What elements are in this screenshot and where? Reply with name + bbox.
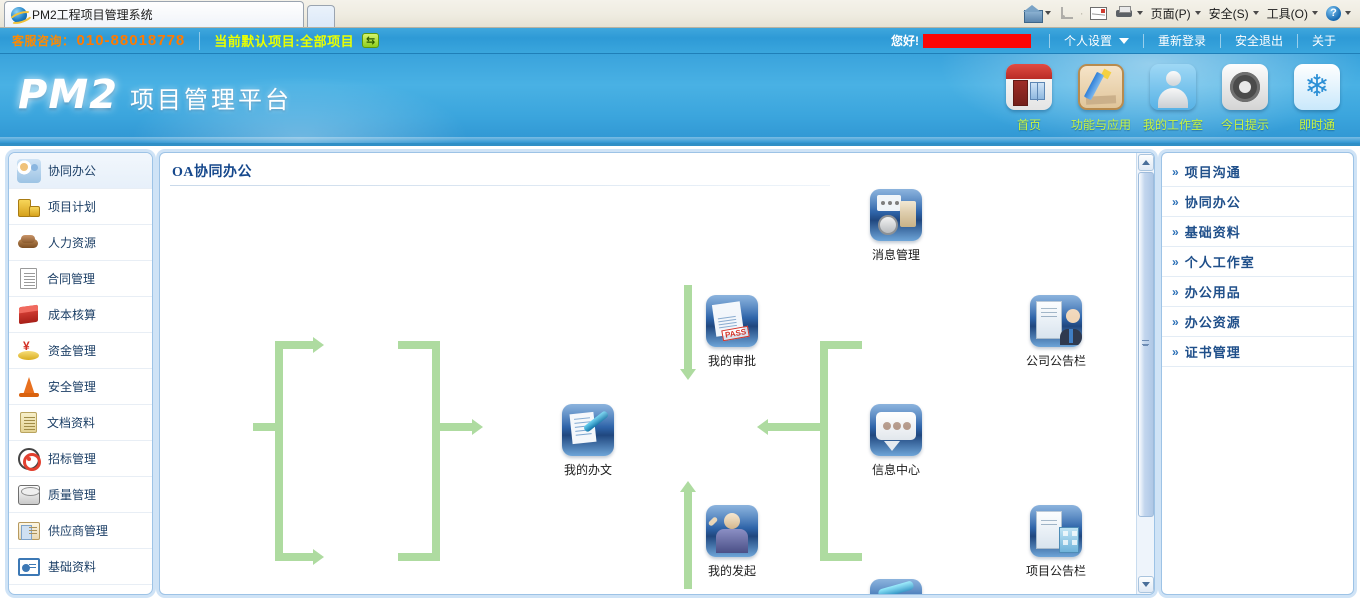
current-project-label: 当前默认项目:全部项目 xyxy=(214,31,354,50)
main-region: 协同办公 项目计划 人力资源 合同管理 成本核算 资金管理 安全管理 文档资料 xyxy=(0,146,1360,601)
message-icon xyxy=(870,189,922,241)
arrow-to-launch xyxy=(313,549,324,565)
browser-command-bar: · 页面(P) 安全(S) 工具(O) ? xyxy=(1021,0,1360,27)
connector-segment xyxy=(432,341,440,561)
mail-icon xyxy=(1090,7,1107,20)
home-button[interactable] xyxy=(1021,2,1054,24)
node-project-bulletin-board[interactable]: 项目公告栏 xyxy=(1014,505,1098,579)
quick-link-label: 协同办公 xyxy=(1185,192,1241,211)
app-info-bar: 客服咨询： 010-88018778 当前默认项目:全部项目 ⇆ 您好! 个人设… xyxy=(0,28,1360,54)
mail-button[interactable] xyxy=(1087,2,1110,24)
relogin-link[interactable]: 重新登录 xyxy=(1144,32,1220,49)
page-menu-label: 页面(P) xyxy=(1151,5,1191,22)
nav-label: 首页 xyxy=(1017,116,1041,133)
app-logo: PM2 项目管理平台 xyxy=(18,72,292,118)
sidebar-item-contract-management[interactable]: 合同管理 xyxy=(9,261,152,297)
quick-link-collaborative-office[interactable]: » 协同办公 xyxy=(1162,187,1353,217)
divider xyxy=(199,32,200,50)
sidebar-item-bidding-management[interactable]: 招标管理 xyxy=(9,441,152,477)
node-label: 我的发起 xyxy=(690,562,774,579)
arrow-to-approval xyxy=(313,337,324,353)
security-menu[interactable]: 安全(S) xyxy=(1206,2,1262,24)
quick-link-label: 项目沟通 xyxy=(1185,162,1241,181)
node-my-approval[interactable]: PASS 我的审批 xyxy=(690,295,774,369)
vendor-card-icon xyxy=(18,522,40,540)
app-banner: PM2 项目管理平台 首页 功能与应用 我的工作室 今日提示 即时通 xyxy=(0,54,1360,146)
safety-cone-icon xyxy=(17,375,41,399)
content-scrollbar[interactable] xyxy=(1136,153,1154,594)
personal-settings-label: 个人设置 xyxy=(1064,32,1112,49)
browser-tab[interactable]: PM2工程项目管理系统 xyxy=(4,1,304,27)
help-menu[interactable]: ? xyxy=(1323,2,1354,24)
connector-segment xyxy=(768,423,828,431)
board-person-icon xyxy=(1030,295,1082,347)
sidebar-item-document-files[interactable]: 文档资料 xyxy=(9,405,152,441)
base-data-icon xyxy=(18,558,40,576)
connector-segment xyxy=(820,341,828,561)
plan-icon xyxy=(17,195,41,219)
partial-icon xyxy=(870,579,922,595)
node-partial-clipped[interactable] xyxy=(854,579,938,595)
tools-menu-label: 工具(O) xyxy=(1267,5,1308,22)
greeting-label: 您好! xyxy=(891,32,919,49)
help-icon: ? xyxy=(1326,6,1341,21)
node-my-doc[interactable]: 我的办文 xyxy=(546,404,630,478)
chevron-down-icon xyxy=(1253,11,1259,15)
user-icon xyxy=(1150,64,1196,110)
content-panel: OA协同办公 xyxy=(159,152,1155,595)
snowflake-icon xyxy=(1294,64,1340,110)
connector-segment xyxy=(432,423,474,431)
quick-link-label: 基础资料 xyxy=(1185,222,1241,241)
nav-label: 我的工作室 xyxy=(1143,116,1203,133)
feeds-button[interactable] xyxy=(1056,2,1077,24)
sidebar-item-basic-data[interactable]: 基础资料 xyxy=(9,549,152,585)
sidebar-item-collaborative-office[interactable]: 协同办公 xyxy=(9,153,152,189)
node-label: 消息管理 xyxy=(854,246,938,263)
service-hotline: 客服咨询： 010-88018778 xyxy=(0,32,185,49)
nav-item-functions[interactable]: 功能与应用 xyxy=(1072,64,1130,133)
quick-link-certificate-management[interactable]: » 证书管理 xyxy=(1162,337,1353,367)
node-label: 公司公告栏 xyxy=(1014,352,1098,369)
arrow-to-info-center-left xyxy=(472,419,483,435)
sidebar-item-label: 文档资料 xyxy=(47,414,95,431)
chevron-right-icon: » xyxy=(1172,315,1179,329)
logo-text: PM2 xyxy=(18,72,118,118)
node-label: 信息中心 xyxy=(854,461,938,478)
sidebar-item-quality-management[interactable]: 质量管理 xyxy=(9,477,152,513)
quick-link-project-communication[interactable]: » 项目沟通 xyxy=(1162,157,1353,187)
personal-settings-link[interactable]: 个人设置 xyxy=(1050,32,1143,49)
home-icon xyxy=(1024,6,1041,21)
sidebar-item-label: 资金管理 xyxy=(48,342,96,359)
about-link[interactable]: 关于 xyxy=(1298,32,1350,49)
launch-person-icon xyxy=(706,505,758,557)
chevron-right-icon: » xyxy=(1172,225,1179,239)
chevron-right-icon: » xyxy=(1172,285,1179,299)
sidebar-item-supplier-management[interactable]: 供应商管理 xyxy=(9,513,152,549)
chevron-up-icon xyxy=(1142,160,1150,165)
page-title: OA协同办公 xyxy=(172,161,252,181)
node-my-launch[interactable]: 我的发起 xyxy=(690,505,774,579)
quick-links-panel: » 项目沟通 » 协同办公 » 基础资料 » 个人工作室 » 办公用品 » 办公… xyxy=(1161,152,1354,595)
nav-item-instant-messenger[interactable]: 即时通 xyxy=(1288,64,1346,133)
quality-icon xyxy=(18,485,40,505)
new-tab-button[interactable] xyxy=(307,5,335,27)
sidebar-item-label: 基础资料 xyxy=(48,558,96,575)
tab-title: PM2工程项目管理系统 xyxy=(32,6,153,23)
switch-project-icon[interactable]: ⇆ xyxy=(362,33,379,48)
internet-explorer-icon xyxy=(11,7,27,23)
hotline-number: 010-88018778 xyxy=(77,32,186,49)
chevron-right-icon: » xyxy=(1172,165,1179,179)
scrollbar-track[interactable] xyxy=(1137,172,1155,575)
connector-segment xyxy=(275,341,283,561)
chevron-down-icon xyxy=(1142,582,1150,587)
chevron-right-icon: » xyxy=(1172,345,1179,359)
sidebar-item-safety-management[interactable]: 安全管理 xyxy=(9,369,152,405)
quick-link-label: 证书管理 xyxy=(1185,342,1241,361)
pencil-icon xyxy=(1078,64,1124,110)
nav-label: 即时通 xyxy=(1299,116,1335,133)
chevron-down-icon xyxy=(1119,38,1129,44)
account-links: 您好! 个人设置 重新登录 安全退出 关于 xyxy=(891,32,1360,49)
quick-link-office-supplies[interactable]: » 办公用品 xyxy=(1162,277,1353,307)
doc-pen-icon xyxy=(562,404,614,456)
sidebar-item-label: 合同管理 xyxy=(47,270,95,287)
oa-flow-diagram: 我的办文 PASS 我的审批 我的发起 消息管理 信息中心 公司公告栏 xyxy=(160,189,1137,595)
tools-menu[interactable]: 工具(O) xyxy=(1264,2,1321,24)
sidebar-item-cost-accounting[interactable]: 成本核算 xyxy=(9,297,152,333)
module-sidebar: 协同办公 项目计划 人力资源 合同管理 成本核算 资金管理 安全管理 文档资料 xyxy=(8,152,153,595)
nav-item-today-tips[interactable]: 今日提示 xyxy=(1216,64,1274,133)
connector-segment xyxy=(275,341,315,349)
nav-item-my-studio[interactable]: 我的工作室 xyxy=(1144,64,1202,133)
sidebar-item-project-plan[interactable]: 项目计划 xyxy=(9,189,152,225)
username-redacted xyxy=(923,34,1031,48)
node-label: 我的审批 xyxy=(690,352,774,369)
page-menu[interactable]: 页面(P) xyxy=(1148,2,1204,24)
node-info-center[interactable]: 信息中心 xyxy=(854,404,938,478)
scrollbar-grip xyxy=(1142,340,1149,345)
arrow-to-info-center-bottom xyxy=(680,481,696,492)
node-label: 项目公告栏 xyxy=(1014,562,1098,579)
cost-icon xyxy=(17,303,41,327)
nav-label: 今日提示 xyxy=(1221,116,1269,133)
board-building-icon xyxy=(1030,505,1082,557)
logout-link[interactable]: 安全退出 xyxy=(1221,32,1297,49)
quick-link-office-resources[interactable]: » 办公资源 xyxy=(1162,307,1353,337)
sidebar-item-label: 供应商管理 xyxy=(48,522,108,539)
arrow-to-info-center-right xyxy=(757,419,768,435)
feed-icon xyxy=(1059,6,1074,21)
sidebar-item-label: 人力资源 xyxy=(48,234,96,251)
print-icon xyxy=(1115,6,1133,20)
wood-icon xyxy=(17,231,41,255)
sidebar-item-label: 成本核算 xyxy=(48,306,96,323)
file-icon xyxy=(20,412,37,433)
chevron-right-icon: » xyxy=(1172,195,1179,209)
sidebar-item-label: 协同办公 xyxy=(48,162,96,179)
node-message-management[interactable]: 消息管理 xyxy=(854,189,938,263)
chevron-down-icon xyxy=(1345,11,1351,15)
sidebar-item-label: 项目计划 xyxy=(48,198,96,215)
scroll-down-button[interactable] xyxy=(1138,576,1154,593)
quick-link-personal-studio[interactable]: » 个人工作室 xyxy=(1162,247,1353,277)
quick-link-basic-data[interactable]: » 基础资料 xyxy=(1162,217,1353,247)
quick-link-label: 办公资源 xyxy=(1185,312,1241,331)
nav-item-home[interactable]: 首页 xyxy=(1000,64,1058,133)
home-icon xyxy=(1006,64,1052,110)
target-icon xyxy=(18,448,40,470)
node-company-bulletin-board[interactable]: 公司公告栏 xyxy=(1014,295,1098,369)
sidebar-item-human-resources[interactable]: 人力资源 xyxy=(9,225,152,261)
chevron-down-icon xyxy=(1045,11,1051,15)
command-separator: · xyxy=(1079,6,1085,20)
contract-icon xyxy=(20,268,37,289)
logo-subtitle: 项目管理平台 xyxy=(130,80,292,115)
chevron-down-icon xyxy=(1312,11,1318,15)
sidebar-item-label: 质量管理 xyxy=(48,486,96,503)
arrow-to-info-center-top xyxy=(680,369,696,380)
quick-link-label: 办公用品 xyxy=(1185,282,1241,301)
node-label: 我的办文 xyxy=(546,461,630,478)
print-button[interactable] xyxy=(1112,2,1146,24)
chevron-down-icon xyxy=(1195,11,1201,15)
connector-segment xyxy=(275,553,315,561)
sidebar-item-fund-management[interactable]: 资金管理 xyxy=(9,333,152,369)
security-menu-label: 安全(S) xyxy=(1209,5,1249,22)
chat-icon xyxy=(870,404,922,456)
hotline-label: 客服咨询： xyxy=(12,32,75,49)
quick-link-label: 个人工作室 xyxy=(1185,252,1255,271)
nav-label: 功能与应用 xyxy=(1071,116,1131,133)
banner-nav: 首页 功能与应用 我的工作室 今日提示 即时通 xyxy=(1000,64,1346,133)
browser-chrome: PM2工程项目管理系统 · 页面(P) 安全(S) 工具(O) ? xyxy=(0,0,1360,28)
approval-icon: PASS xyxy=(706,295,758,347)
sidebar-item-label: 招标管理 xyxy=(48,450,96,467)
title-divider xyxy=(170,185,830,186)
scroll-up-button[interactable] xyxy=(1138,154,1154,171)
money-icon xyxy=(17,339,41,363)
chevron-right-icon: » xyxy=(1172,255,1179,269)
sidebar-item-label: 安全管理 xyxy=(48,378,96,395)
gear-icon xyxy=(1222,64,1268,110)
chevron-down-icon xyxy=(1137,11,1143,15)
team-icon xyxy=(17,159,41,183)
